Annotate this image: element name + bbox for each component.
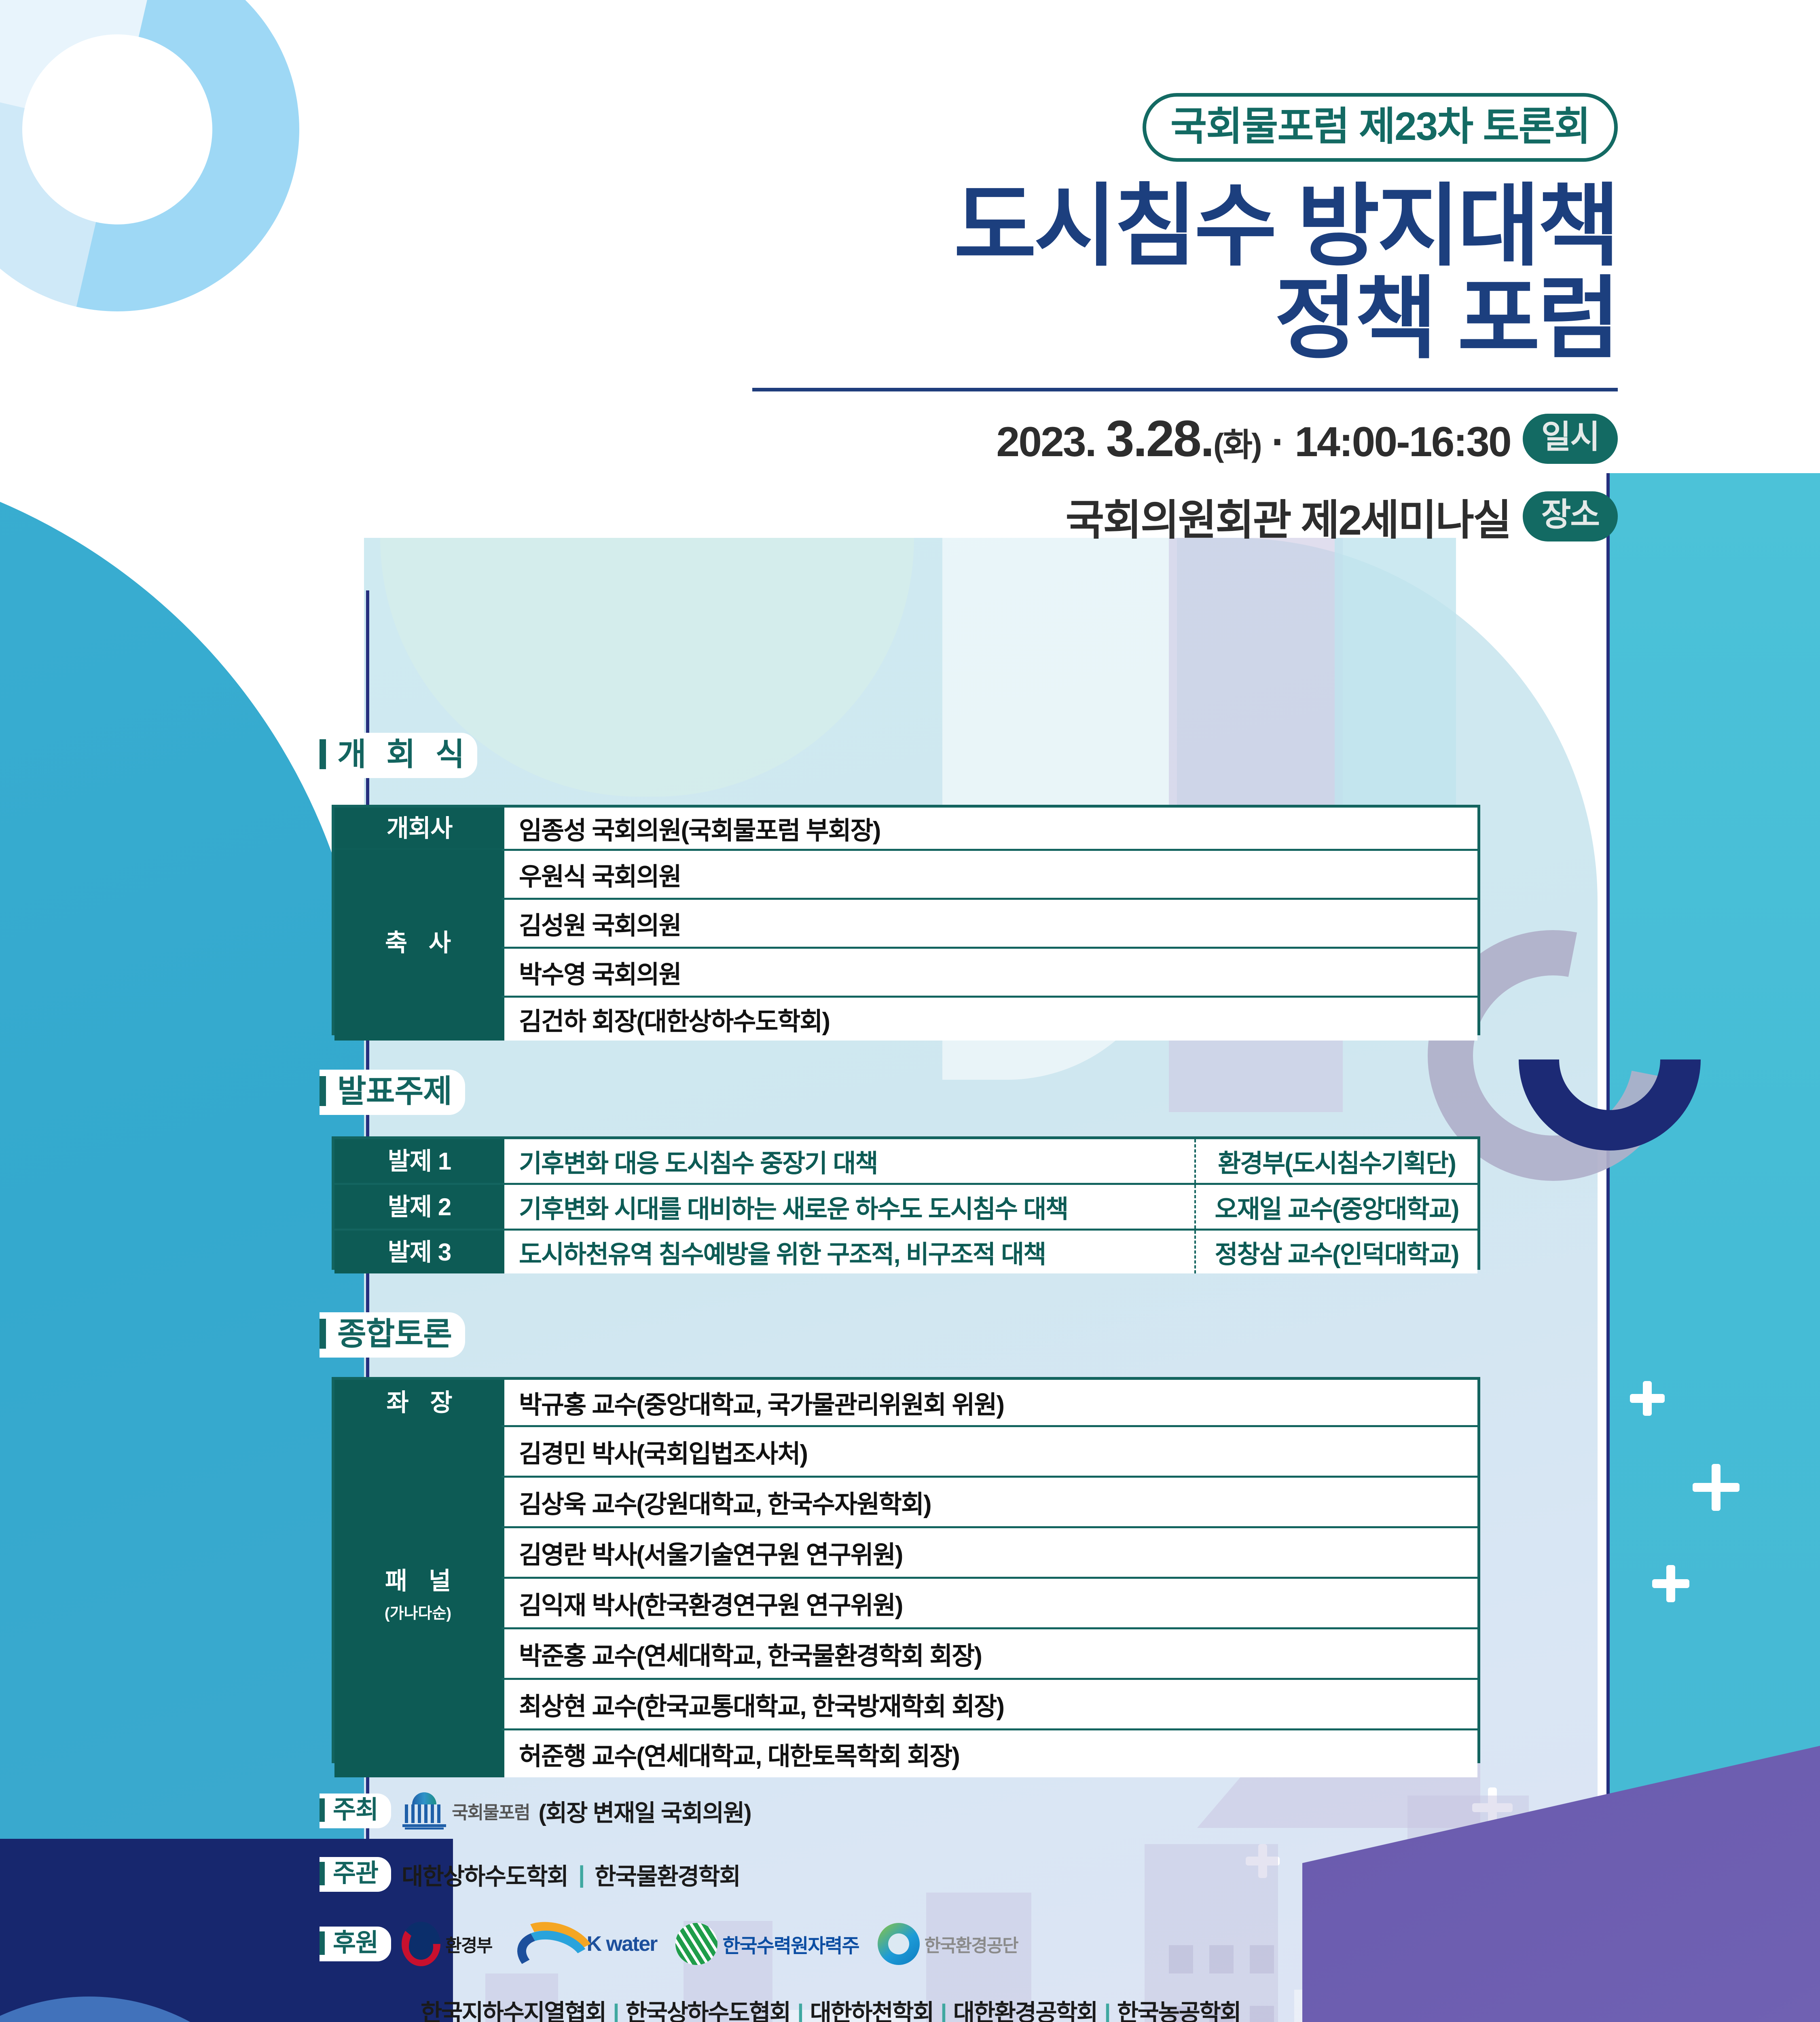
organizer-separator: | (577, 1861, 586, 1888)
opening-name-0: 임종성 국회의원(국회물포럼 부회장) (504, 808, 1477, 849)
organizer-row: 주관 대한상하수도학회 | 한국물환경학회 (320, 1857, 740, 1892)
keco-logo: 한국환경공단 (878, 1923, 1018, 1965)
table-row: 김건하 회장(대한상하수도학회) (334, 998, 1477, 1041)
organizer-content: 대한상하수도학회 | 한국물환경학회 (402, 1857, 740, 1891)
date-separator: · (1272, 419, 1285, 465)
table-row: 최상현 교수(한국교통대학교, 한국방재학회 회장) (334, 1680, 1477, 1730)
table-row: 김경민 박사(국회입법조사처) (334, 1427, 1477, 1478)
host-badge: 주최 (320, 1794, 391, 1828)
presentation-topics-table: 발제 1 기후변화 대응 도시침수 중장기 대책 환경부(도시침수기획단) 발제… (332, 1136, 1480, 1270)
organizer-1: 한국물환경학회 (595, 1857, 740, 1891)
table-row: 박준홍 교수(연세대학교, 한국물환경학회 회장) (334, 1629, 1477, 1680)
poster-header: 국회물포럼 제23차 토론회 도시침수 방지대책 정책 포럼 2023. 3.2… (607, 93, 1618, 547)
table-row: 허준행 교수(연세대학교, 대한토목학회 회장) (334, 1730, 1477, 1777)
section-bar-icon (320, 1319, 326, 1349)
organizer-badge: 주관 (320, 1857, 391, 1892)
sponsor-org-1-2: 대한하천학회 (810, 2000, 933, 2022)
section-label-discussion: 종합토론 (320, 1312, 465, 1358)
presentation-speaker-2: 정창삼 교수(인덕대학교) (1194, 1231, 1477, 1273)
opening-name-4: 김건하 회장(대한상하수도학회) (504, 998, 1477, 1041)
sponsor-badge: 후원 (320, 1927, 391, 1961)
venue-row: 국회의원회관 제2세미나실 장소 (607, 486, 1618, 547)
sponsor-row: 후원 환경부 K water (320, 1922, 1018, 1966)
presentation-no-0: 발제 1 (334, 1139, 504, 1183)
section-label-discussion-text: 종합토론 (337, 1318, 452, 1349)
venue-text: 국회의원회관 제2세미나실 (1066, 486, 1511, 547)
sponsor-logo-name-1: K water (587, 1932, 657, 1956)
title-line-1: 도시침수 방지대책 (954, 176, 1618, 277)
host-content: 국회물포럼 (회장 변재일 국회의원) (402, 1792, 751, 1830)
panel-header-cell: 패 널 (가나다순) (334, 1424, 502, 1760)
k-water-logo: K water (511, 1922, 657, 1966)
section-label-opening: 개 회 식 (320, 733, 477, 778)
sponsor-org-1-0: 한국지하수지열협회 (421, 2000, 606, 2022)
table-row: 김상욱 교수(강원대학교, 한국수자원학회) (334, 1478, 1477, 1528)
presentation-no-1: 발제 2 (334, 1185, 504, 1229)
table-row: 발제 3 도시하천유역 침수예방을 위한 구조적, 비구조적 대책 정창삼 교수… (334, 1231, 1477, 1273)
ministry-of-environment-logo: 환경부 (402, 1922, 492, 1966)
opening-name-2: 김성원 국회의원 (504, 900, 1477, 947)
opening-chukssa-header: 축 사 (334, 849, 502, 1032)
panel-label-text: 패 널 (378, 1561, 458, 1597)
table-row: 좌 장 박규홍 교수(중앙대학교, 국가물관리위원회 위원) (334, 1380, 1477, 1427)
table-row: 개회사 임종성 국회의원(국회물포럼 부회장) (334, 808, 1477, 851)
panel-discussion-table: 좌 장 박규홍 교수(중앙대학교, 국가물관리위원회 위원) 김경민 박사(국회… (332, 1377, 1480, 1763)
keco-logo-icon (878, 1923, 920, 1965)
kwater-logo-icon (511, 1922, 582, 1966)
opening-ceremony-table: 개회사 임종성 국회의원(국회물포럼 부회장) 우원식 국회의원 김성원 국회의… (332, 805, 1480, 1035)
panelist-3: 김익재 박사(한국환경연구원 연구위원) (504, 1579, 1477, 1627)
khnp-logo-icon (675, 1923, 717, 1965)
panelist-4: 박준홍 교수(연세대학교, 한국물환경학회 회장) (504, 1629, 1477, 1678)
poster-root: 국회물포럼 제23차 토론회 도시침수 방지대책 정책 포럼 2023. 3.2… (0, 0, 1820, 2022)
table-row: 발제 2 기후변화 시대를 대비하는 새로운 하수도 도시침수 대책 오재일 교… (334, 1185, 1477, 1231)
sponsor-logo-name-0: 환경부 (445, 1931, 492, 1957)
page-title: 도시침수 방지대책 정책 포럼 (607, 180, 1618, 365)
organizer-0: 대한상하수도학회 (402, 1857, 568, 1891)
section-label-opening-text: 개 회 식 (337, 738, 470, 770)
presentation-topic-1: 기후변화 시대를 대비하는 새로운 하수도 도시침수 대책 (504, 1185, 1194, 1229)
org-separator: | (1103, 2000, 1111, 2022)
panelist-6: 허준행 교수(연세대학교, 대한토목학회 회장) (504, 1730, 1477, 1777)
datetime-row: 2023. 3.28.(화) · 14:00-16:30 일시 (607, 409, 1618, 468)
presentation-no-2: 발제 3 (334, 1231, 504, 1273)
sponsor-logo-name-2: 한국수력원자력주 (722, 1930, 859, 1958)
organizer-label: 주관 (333, 1861, 378, 1886)
poster-content: 국회물포럼 제23차 토론회 도시침수 방지대책 정책 포럼 2023. 3.2… (0, 0, 1820, 2022)
sponsor-logo-name-3: 한국환경공단 (925, 1931, 1018, 1957)
datetime-text: 2023. 3.28.(화) · 14:00-16:30 (996, 409, 1510, 468)
panelist-0: 김경민 박사(국회입법조사처) (504, 1427, 1477, 1476)
section-label-presentations: 발표주제 (320, 1070, 465, 1115)
opening-name-1: 우원식 국회의원 (504, 851, 1477, 898)
org-separator: | (796, 2000, 804, 2022)
panelist-5: 최상현 교수(한국교통대학교, 한국방재학회 회장) (504, 1680, 1477, 1728)
national-assembly-water-forum-logo: 국회물포럼 (402, 1792, 529, 1830)
sponsor-orgs-line-1: 한국지하수지열협회 | 한국상하수도협회 | 대한하천학회 | 대한환경공학회 … (421, 1994, 1240, 2022)
date-year: 2023. (996, 419, 1095, 465)
datetime-badge: 일시 (1523, 414, 1618, 464)
section-bar-icon (320, 1931, 325, 1955)
org-separator: | (939, 2000, 948, 2022)
presentation-speaker-0: 환경부(도시침수기획단) (1194, 1139, 1477, 1183)
host-logo-name: 국회물포럼 (452, 1798, 529, 1824)
venue-badge: 장소 (1523, 491, 1618, 541)
panel-label-sub: (가나다순) (385, 1601, 451, 1623)
sponsor-org-1-3: 대한환경공학회 (953, 2000, 1097, 2022)
sponsor-org-1-1: 한국상하수도협회 (626, 2000, 790, 2022)
section-bar-icon (320, 1076, 326, 1106)
host-row: 주최 국회물포럼 (회장 변재일 국회의원) (320, 1792, 751, 1830)
date-dayofweek: (화) (1213, 427, 1261, 463)
sponsor-label: 후원 (333, 1931, 378, 1956)
section-bar-icon (320, 1798, 325, 1822)
sponsor-org-1-4: 한국농공학회 (1117, 2000, 1240, 2022)
khnp-logo: 한국수력원자력주 (675, 1923, 859, 1965)
date-month-day: 3.28. (1106, 410, 1213, 467)
section-bar-icon (320, 1862, 325, 1885)
host-label: 주최 (333, 1798, 378, 1823)
table-row: 김영란 박사(서울기술연구원 연구위원) (334, 1528, 1477, 1579)
presentation-topic-0: 기후변화 대응 도시침수 중장기 대책 (504, 1139, 1194, 1183)
panelist-2: 김영란 박사(서울기술연구원 연구위원) (504, 1528, 1477, 1577)
moe-logo-icon (402, 1922, 440, 1966)
table-row: 김성원 국회의원 (334, 900, 1477, 949)
presentation-topic-2: 도시하천유역 침수예방을 위한 구조적, 비구조적 대책 (504, 1231, 1194, 1273)
table-row: 박수영 국회의원 (334, 949, 1477, 998)
title-line-2: 정책 포럼 (607, 273, 1618, 366)
forum-kicker-badge: 국회물포럼 제23차 토론회 (1143, 93, 1618, 162)
sponsor-logos: 환경부 K water 한국수력원자력주 (402, 1922, 1018, 1966)
panelist-1: 김상욱 교수(강원대학교, 한국수자원학회) (504, 1478, 1477, 1526)
event-time: 14:00-16:30 (1295, 419, 1511, 465)
presentation-speaker-1: 오재일 교수(중앙대학교) (1194, 1185, 1477, 1229)
table-row: 김익재 박사(한국환경연구원 연구위원) (334, 1579, 1477, 1629)
section-bar-icon (320, 739, 326, 769)
section-label-presentations-text: 발표주제 (337, 1075, 452, 1107)
assembly-building-icon (402, 1792, 447, 1830)
table-row: 발제 1 기후변화 대응 도시침수 중장기 대책 환경부(도시침수기획단) (334, 1139, 1477, 1185)
org-separator: | (611, 2000, 620, 2022)
table-row: 우원식 국회의원 (334, 851, 1477, 900)
discussion-chair-label: 좌 장 (334, 1380, 504, 1425)
host-chair-text: (회장 변재일 국회의원) (539, 1794, 751, 1828)
opening-role-0: 개회사 (334, 808, 504, 849)
opening-name-3: 박수영 국회의원 (504, 949, 1477, 996)
discussion-chair-name: 박규홍 교수(중앙대학교, 국가물관리위원회 위원) (504, 1380, 1477, 1425)
header-divider-rule (752, 388, 1618, 391)
